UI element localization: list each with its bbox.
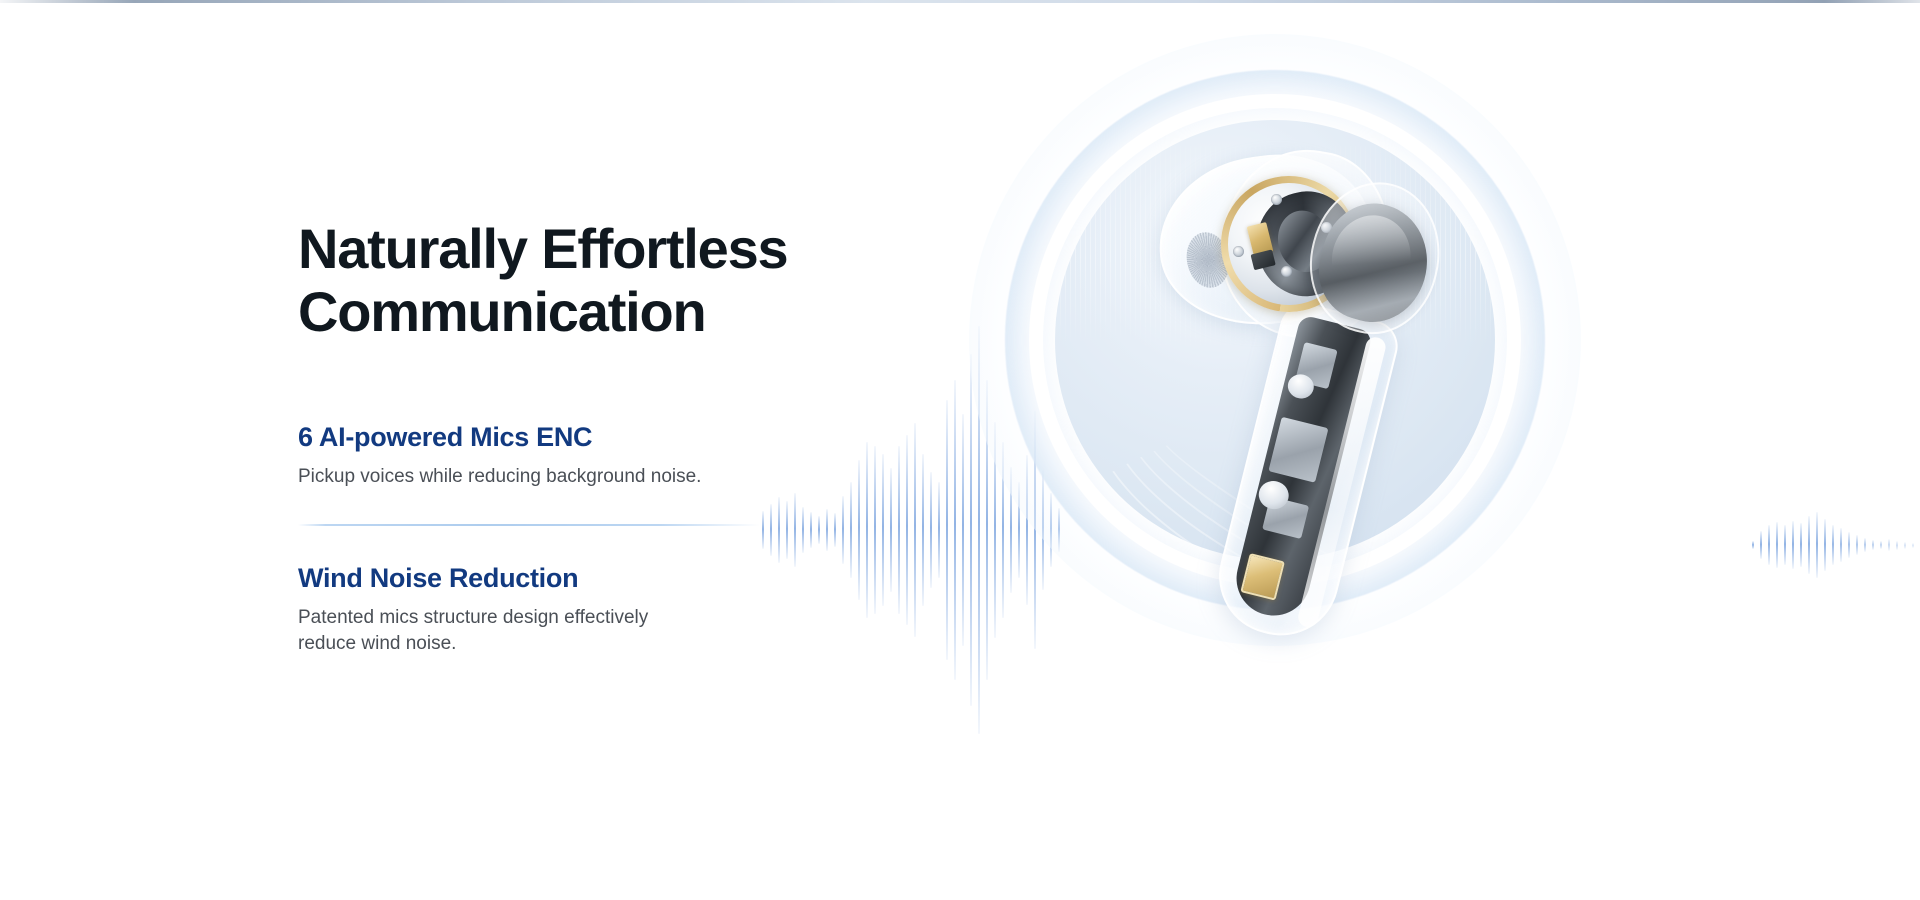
wave-bar xyxy=(1832,525,1834,565)
feature-divider xyxy=(298,524,760,526)
feature-title: 6 AI-powered Mics ENC xyxy=(298,421,938,455)
feature-title: Wind Noise Reduction xyxy=(298,562,938,596)
wave-bar xyxy=(1872,540,1874,550)
screw xyxy=(1233,246,1244,257)
wave-bar xyxy=(1776,522,1778,568)
screw xyxy=(1281,266,1292,277)
sound-waveform-right xyxy=(1752,500,1920,590)
feature-item-wind-noise: Wind Noise Reduction Patented mics struc… xyxy=(298,562,938,657)
screw xyxy=(1271,194,1282,205)
wave-bar xyxy=(1864,538,1866,552)
wave-bar xyxy=(1816,512,1818,578)
copy-column: Naturally Effortless Communication 6 AI-… xyxy=(298,218,938,658)
wave-bar xyxy=(954,380,956,680)
wave-bar xyxy=(1840,528,1842,562)
earbud-stem xyxy=(1207,298,1403,647)
wave-bar xyxy=(1904,542,1906,549)
wave-bar xyxy=(1800,523,1802,567)
wave-bar xyxy=(1808,516,1810,574)
hero-banner: Naturally Effortless Communication 6 AI-… xyxy=(0,0,1920,900)
wave-bar xyxy=(938,482,940,578)
wave-bar xyxy=(1856,535,1858,555)
gold-charging-pad xyxy=(1240,553,1285,601)
wave-bar xyxy=(1896,541,1898,550)
wave-bar xyxy=(1792,521,1794,569)
wave-bar xyxy=(1768,525,1770,565)
feature-description: Pickup voices while reducing background … xyxy=(298,464,938,490)
pcb-component xyxy=(1268,417,1328,483)
wave-bar xyxy=(1784,525,1786,565)
wave-bar xyxy=(970,354,972,706)
top-divider-rule xyxy=(0,0,1920,3)
product-visual xyxy=(975,30,1575,870)
wave-bar xyxy=(1880,541,1882,549)
wave-bar xyxy=(1824,519,1826,571)
feature-list: 6 AI-powered Mics ENC Pickup voices whil… xyxy=(298,421,938,657)
wave-bar xyxy=(1752,541,1754,549)
feature-item-mics-enc: 6 AI-powered Mics ENC Pickup voices whil… xyxy=(298,421,938,490)
edge-vignette xyxy=(0,0,1920,900)
wave-bar xyxy=(1888,539,1890,551)
wave-bar xyxy=(962,414,964,646)
earbud xyxy=(1125,148,1455,668)
feature-description: Patented mics structure design effective… xyxy=(298,605,938,657)
page-title: Naturally Effortless Communication xyxy=(298,218,938,343)
wave-bar xyxy=(1760,531,1762,559)
wave-bar xyxy=(1848,532,1850,558)
wave-bar xyxy=(1912,543,1914,548)
wave-bar xyxy=(946,400,948,660)
